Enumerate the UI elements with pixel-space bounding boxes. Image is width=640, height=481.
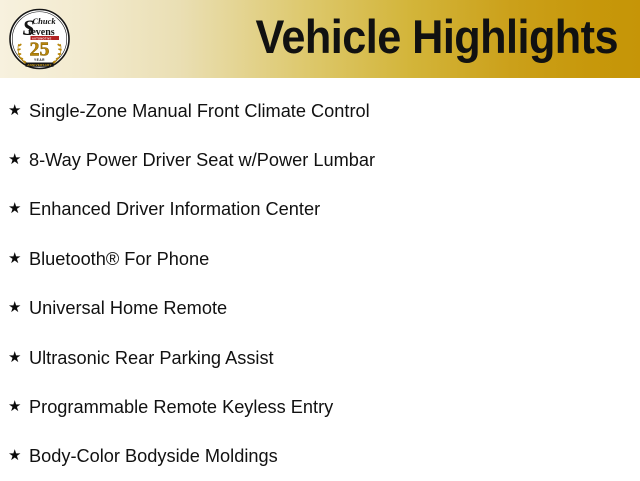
- dealer-logo-svg: S Chuck tevens AUTOMOTIVE: [9, 6, 70, 72]
- star-bullet-icon: ★: [8, 152, 21, 167]
- vehicle-highlights-list: ★ Single-Zone Manual Front Climate Contr…: [0, 86, 640, 481]
- list-item: ★ 8-Way Power Driver Seat w/Power Lumbar: [0, 135, 640, 184]
- vehicle-highlights-slide: S Chuck tevens AUTOMOTIVE: [0, 0, 640, 480]
- list-item-label: Universal Home Remote: [29, 297, 227, 319]
- list-item-label: Bluetooth® For Phone: [29, 248, 209, 270]
- list-item: ★ Bluetooth® For Phone: [0, 234, 640, 283]
- star-bullet-icon: ★: [8, 399, 21, 414]
- svg-text:25: 25: [30, 39, 50, 61]
- star-bullet-icon: ★: [8, 449, 21, 464]
- svg-text:YEAR: YEAR: [34, 58, 45, 62]
- list-item-label: 8-Way Power Driver Seat w/Power Lumbar: [29, 149, 375, 171]
- page-title: Vehicle Highlights: [256, 6, 618, 68]
- svg-text:ANNIVERSARY: ANNIVERSARY: [27, 63, 51, 67]
- list-item-label: Ultrasonic Rear Parking Assist: [29, 347, 274, 369]
- svg-text:Chuck: Chuck: [33, 16, 57, 26]
- list-item-label: Body-Color Bodyside Moldings: [29, 445, 278, 467]
- star-bullet-icon: ★: [8, 251, 21, 266]
- star-bullet-icon: ★: [8, 350, 21, 365]
- star-bullet-icon: ★: [8, 103, 21, 118]
- list-item: ★ Ultrasonic Rear Parking Assist: [0, 333, 640, 382]
- list-item: ★ Single-Zone Manual Front Climate Contr…: [0, 86, 640, 135]
- dealer-logo: S Chuck tevens AUTOMOTIVE: [9, 6, 70, 72]
- list-item: ★ Programmable Remote Keyless Entry: [0, 382, 640, 431]
- list-item: ★ Enhanced Driver Information Center: [0, 185, 640, 234]
- list-item-label: Single-Zone Manual Front Climate Control: [29, 100, 370, 122]
- star-bullet-icon: ★: [8, 300, 21, 315]
- star-bullet-icon: ★: [8, 202, 21, 217]
- list-item-label: Programmable Remote Keyless Entry: [29, 396, 333, 418]
- list-item: ★ Body-Color Bodyside Moldings: [0, 432, 640, 481]
- list-item: ★ Universal Home Remote: [0, 284, 640, 333]
- list-item-label: Enhanced Driver Information Center: [29, 198, 320, 220]
- header-banner: S Chuck tevens AUTOMOTIVE: [0, 0, 640, 78]
